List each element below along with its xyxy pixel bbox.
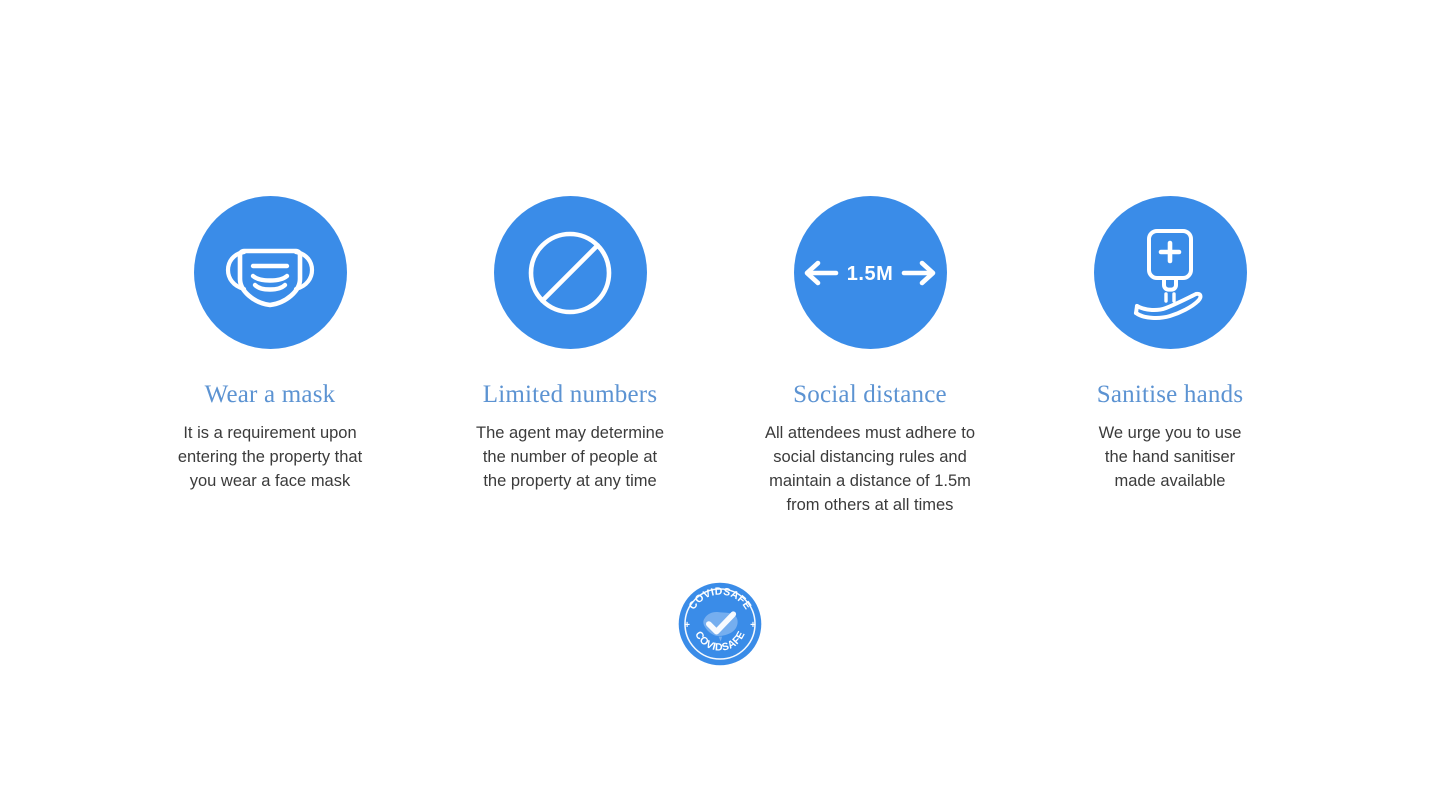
card-title: Sanitise hands (1097, 381, 1244, 409)
face-mask-icon-badge (194, 196, 347, 349)
card-title: Wear a mask (205, 381, 336, 409)
card-body-line: the number of people at (476, 445, 664, 469)
card-body-line: from others at all times (765, 493, 975, 517)
card-body-line: All attendees must adhere to (765, 421, 975, 445)
badge-bullet-right: + (750, 620, 756, 631)
distance-label: 1.5M (847, 263, 893, 285)
card-body-line: the property at any time (476, 469, 664, 493)
distance-arrows-icon-badge: 1.5M (794, 196, 947, 349)
covidsafe-badge: COVIDSAFE COVIDSAFE + + (678, 582, 762, 666)
card-title: Limited numbers (483, 381, 658, 409)
prohibited-circle-icon-badge (494, 196, 647, 349)
card-body-line: It is a requirement upon (178, 421, 362, 445)
card-body-line: entering the property that (178, 445, 362, 469)
card-body-line: made available (1099, 469, 1242, 493)
card-body: All attendees must adhere to social dist… (765, 421, 975, 517)
covidsafe-badge-icon: COVIDSAFE COVIDSAFE + + (678, 582, 762, 666)
card-body: We urge you to use the hand sanitiser ma… (1099, 421, 1242, 493)
distance-arrows-icon: 1.5M (800, 253, 940, 293)
card-body-line: The agent may determine (476, 421, 664, 445)
card-body-line: maintain a distance of 1.5m (765, 469, 975, 493)
card-body: It is a requirement upon entering the pr… (178, 421, 362, 493)
card-body: The agent may determine the number of pe… (476, 421, 664, 493)
safety-card-sanitise-hands: Sanitise hands We urge you to use the ha… (1020, 196, 1320, 493)
badge-bullet-left: + (684, 620, 690, 631)
card-body-line: We urge you to use (1099, 421, 1242, 445)
card-body-line: the hand sanitiser (1099, 445, 1242, 469)
safety-card-social-distance: 1.5M Social distance All attendees must … (720, 196, 1020, 517)
safety-card-limited-numbers: Limited numbers The agent may determine … (420, 196, 720, 493)
face-mask-icon (222, 235, 318, 311)
safety-cards-row: Wear a mask It is a requirement upon ent… (120, 196, 1320, 517)
safety-card-wear-a-mask: Wear a mask It is a requirement upon ent… (120, 196, 420, 493)
hand-sanitiser-icon-badge (1094, 196, 1247, 349)
card-title: Social distance (793, 381, 947, 409)
card-body-line: you wear a face mask (178, 469, 362, 493)
slide-canvas: Wear a mask It is a requirement upon ent… (0, 0, 1440, 810)
prohibited-circle-icon (525, 228, 615, 318)
card-body-line: social distancing rules and (765, 445, 975, 469)
hand-sanitiser-icon (1126, 223, 1214, 323)
